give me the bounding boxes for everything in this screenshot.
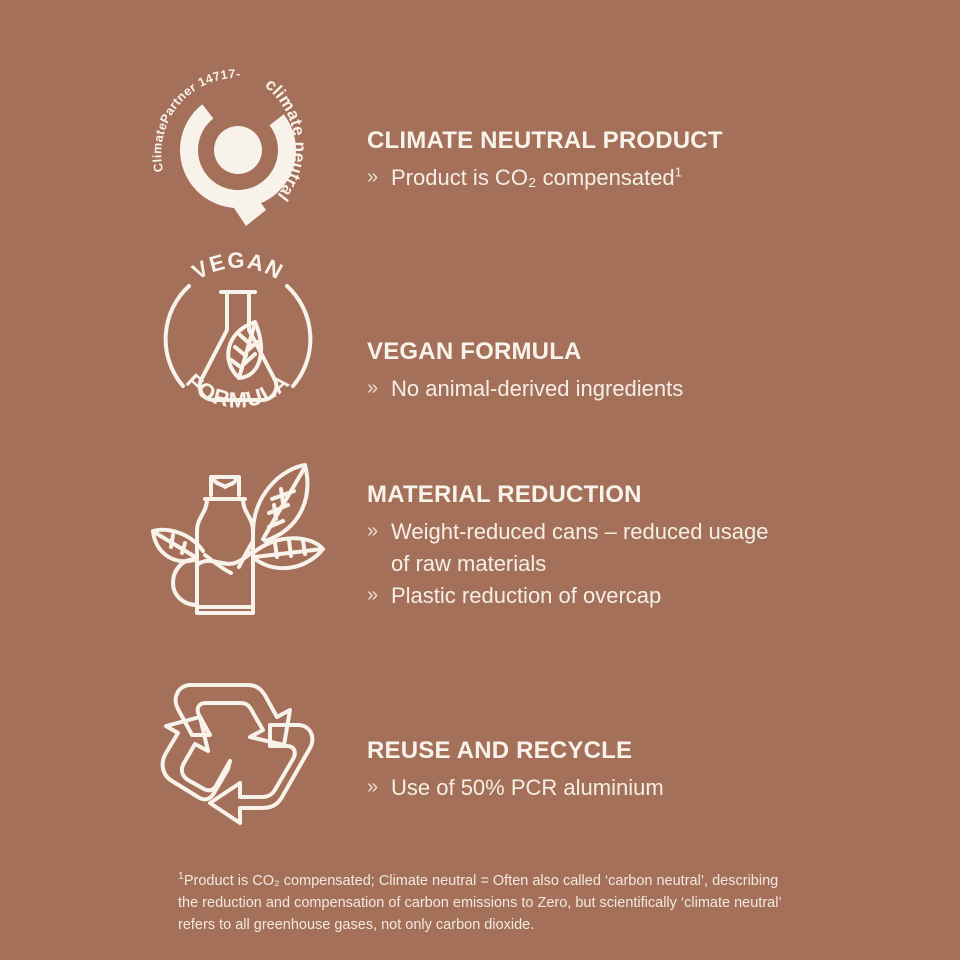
footnote: 1Product is CO₂ compensated; Climate neu… (178, 870, 798, 936)
icon-cell-material-reduction (120, 455, 355, 630)
bullet-item: » Use of 50% PCR aluminium (367, 772, 920, 803)
feature-row-vegan-formula: VEGAN FORMULA VEGAN FORMULA » No animal-… (120, 250, 920, 435)
bullet-marker: » (367, 580, 391, 610)
feature-title-climate-neutral: CLIMATE NEUTRAL PRODUCT (367, 127, 920, 156)
feature-bullets-climate-neutral: » Product is CO₂ compensated1 (367, 162, 920, 193)
recycle-mobius-arrows-icon (148, 665, 328, 825)
text-cell-reuse-and-recycle: REUSE AND RECYCLE » Use of 50% PCR alumi… (355, 685, 920, 804)
bullet-text: of raw materials (391, 548, 920, 579)
feature-bullets-reuse-and-recycle: » Use of 50% PCR aluminium (367, 772, 920, 803)
feature-row-climate-neutral: ClimatePartner 14717-2005-1001 climate n… (120, 56, 920, 236)
feature-title-material-reduction: MATERIAL REDUCTION (367, 481, 920, 510)
footnote-reference: 1 (675, 165, 682, 180)
feature-title-reuse-and-recycle: REUSE AND RECYCLE (367, 737, 920, 766)
text-cell-climate-neutral: CLIMATE NEUTRAL PRODUCT » Product is CO₂… (355, 97, 920, 194)
climate-partner-seal-icon: ClimatePartner 14717-2005-1001 climate n… (138, 56, 338, 236)
feature-row-material-reduction: MATERIAL REDUCTION » Weight-reduced cans… (120, 455, 920, 630)
feature-bullets-material-reduction: » Weight-reduced cans – reduced usage of… (367, 516, 920, 612)
bullet-marker: » (367, 162, 391, 192)
vegan-formula-flask-icon: VEGAN FORMULA (143, 250, 333, 435)
feature-row-reuse-and-recycle: REUSE AND RECYCLE » Use of 50% PCR alumi… (120, 665, 920, 825)
sustainability-claims-panel: ClimatePartner 14717-2005-1001 climate n… (0, 0, 960, 960)
icon-cell-reuse-and-recycle (120, 665, 355, 825)
bullet-text: Product is CO₂ compensated1 (391, 162, 920, 193)
bullet-marker: » (367, 516, 391, 546)
bullet-item-continuation: of raw materials (367, 548, 920, 579)
bullet-text: No animal-derived ingredients (391, 373, 920, 404)
feature-bullets-vegan-formula: » No animal-derived ingredients (367, 373, 920, 404)
icon-cell-vegan-formula: VEGAN FORMULA (120, 250, 355, 435)
bullet-text: Weight-reduced cans – reduced usage (391, 516, 920, 547)
bullet-item: » No animal-derived ingredients (367, 373, 920, 404)
text-cell-vegan-formula: VEGAN FORMULA » No animal-derived ingred… (355, 280, 920, 405)
bullet-item: » Plastic reduction of overcap (367, 580, 920, 611)
bullet-marker: » (367, 772, 391, 802)
bullet-text: Use of 50% PCR aluminium (391, 772, 920, 803)
bottle-with-leaves-icon (135, 455, 340, 630)
bullet-marker: » (367, 373, 391, 403)
text-cell-material-reduction: MATERIAL REDUCTION » Weight-reduced cans… (355, 473, 920, 613)
feature-title-vegan-formula: VEGAN FORMULA (367, 338, 920, 367)
bullet-item: » Weight-reduced cans – reduced usage (367, 516, 920, 547)
bullet-text: Plastic reduction of overcap (391, 580, 920, 611)
bullet-item: » Product is CO₂ compensated1 (367, 162, 920, 193)
footnote-text: Product is CO₂ compensated; Climate neut… (178, 873, 781, 933)
vegan-arc-label: VEGAN (187, 250, 287, 285)
icon-cell-climate-neutral: ClimatePartner 14717-2005-1001 climate n… (120, 56, 355, 236)
